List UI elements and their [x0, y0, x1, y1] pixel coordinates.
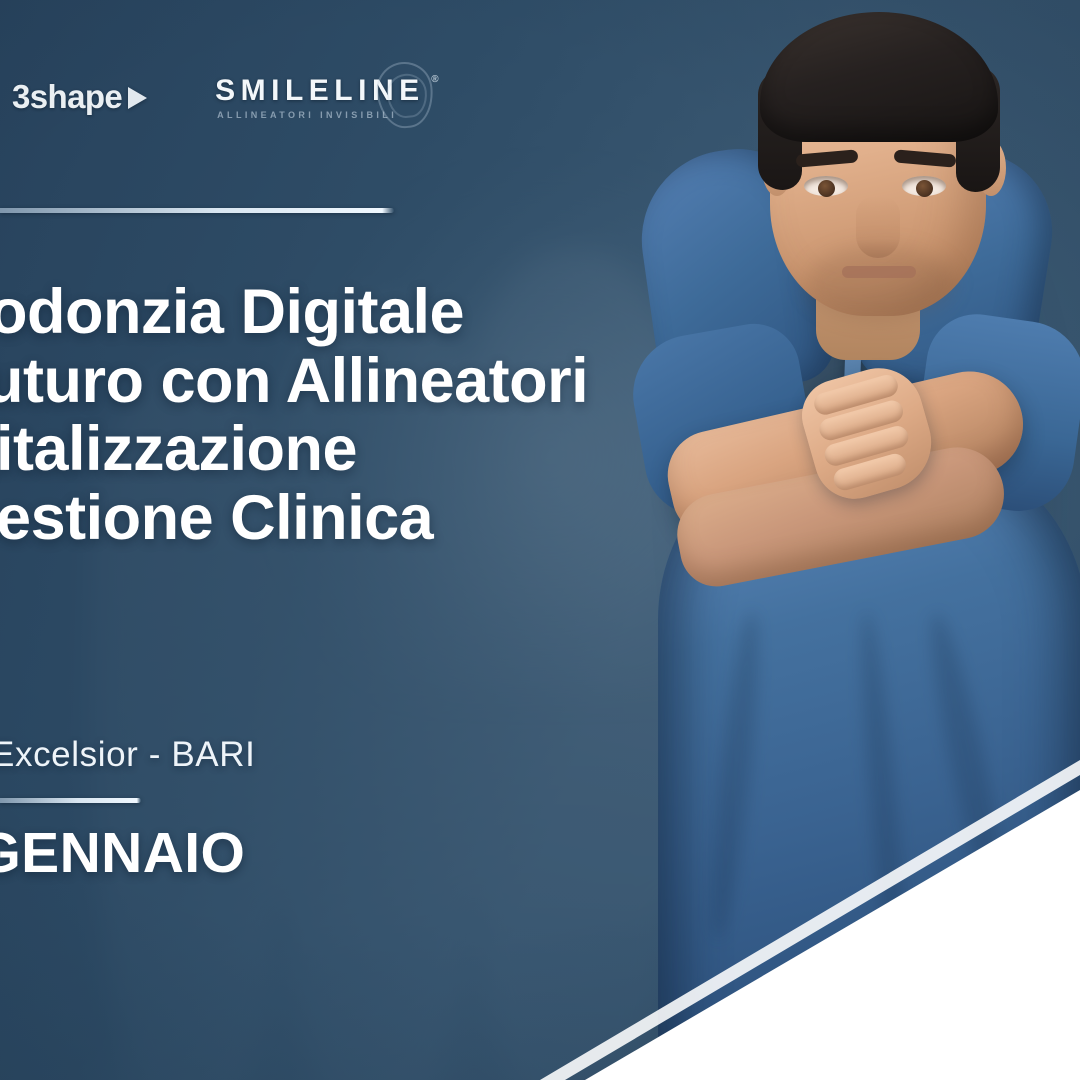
iris-left	[818, 180, 835, 197]
headline-line-2: Il Futuro con Allineatori	[0, 347, 796, 416]
top-divider	[0, 208, 394, 213]
registered-mark: ®	[431, 74, 438, 85]
headline-line-4: e Gestione Clinica	[0, 484, 796, 553]
mouth	[842, 266, 916, 278]
bottom-divider	[0, 798, 141, 803]
poster-root: 3shape SMILELINE ® ALLINEATORI INVISIBIL…	[0, 0, 1080, 1080]
logo-3shape[interactable]: 3shape	[12, 78, 147, 116]
headline-line-1: Ortodonzia Digitale	[0, 278, 796, 347]
page-title: Ortodonzia Digitale Il Futuro con Alline…	[0, 278, 796, 553]
headline-line-3: Digitalizzazione	[0, 415, 796, 484]
event-location: Hotel Excelsior - BARI	[0, 735, 255, 775]
logo-3shape-wordmark: 3shape	[12, 78, 122, 116]
hair	[760, 12, 998, 142]
chin-shading	[806, 246, 954, 320]
event-date: 24 GENNAIO	[0, 820, 245, 886]
logo-smileline[interactable]: SMILELINE ® ALLINEATORI INVISIBILI	[215, 74, 425, 120]
iris-right	[916, 180, 933, 197]
sponsor-logo-bar: 3shape SMILELINE ® ALLINEATORI INVISIBIL…	[0, 74, 425, 120]
triangle-play-icon	[128, 87, 147, 109]
